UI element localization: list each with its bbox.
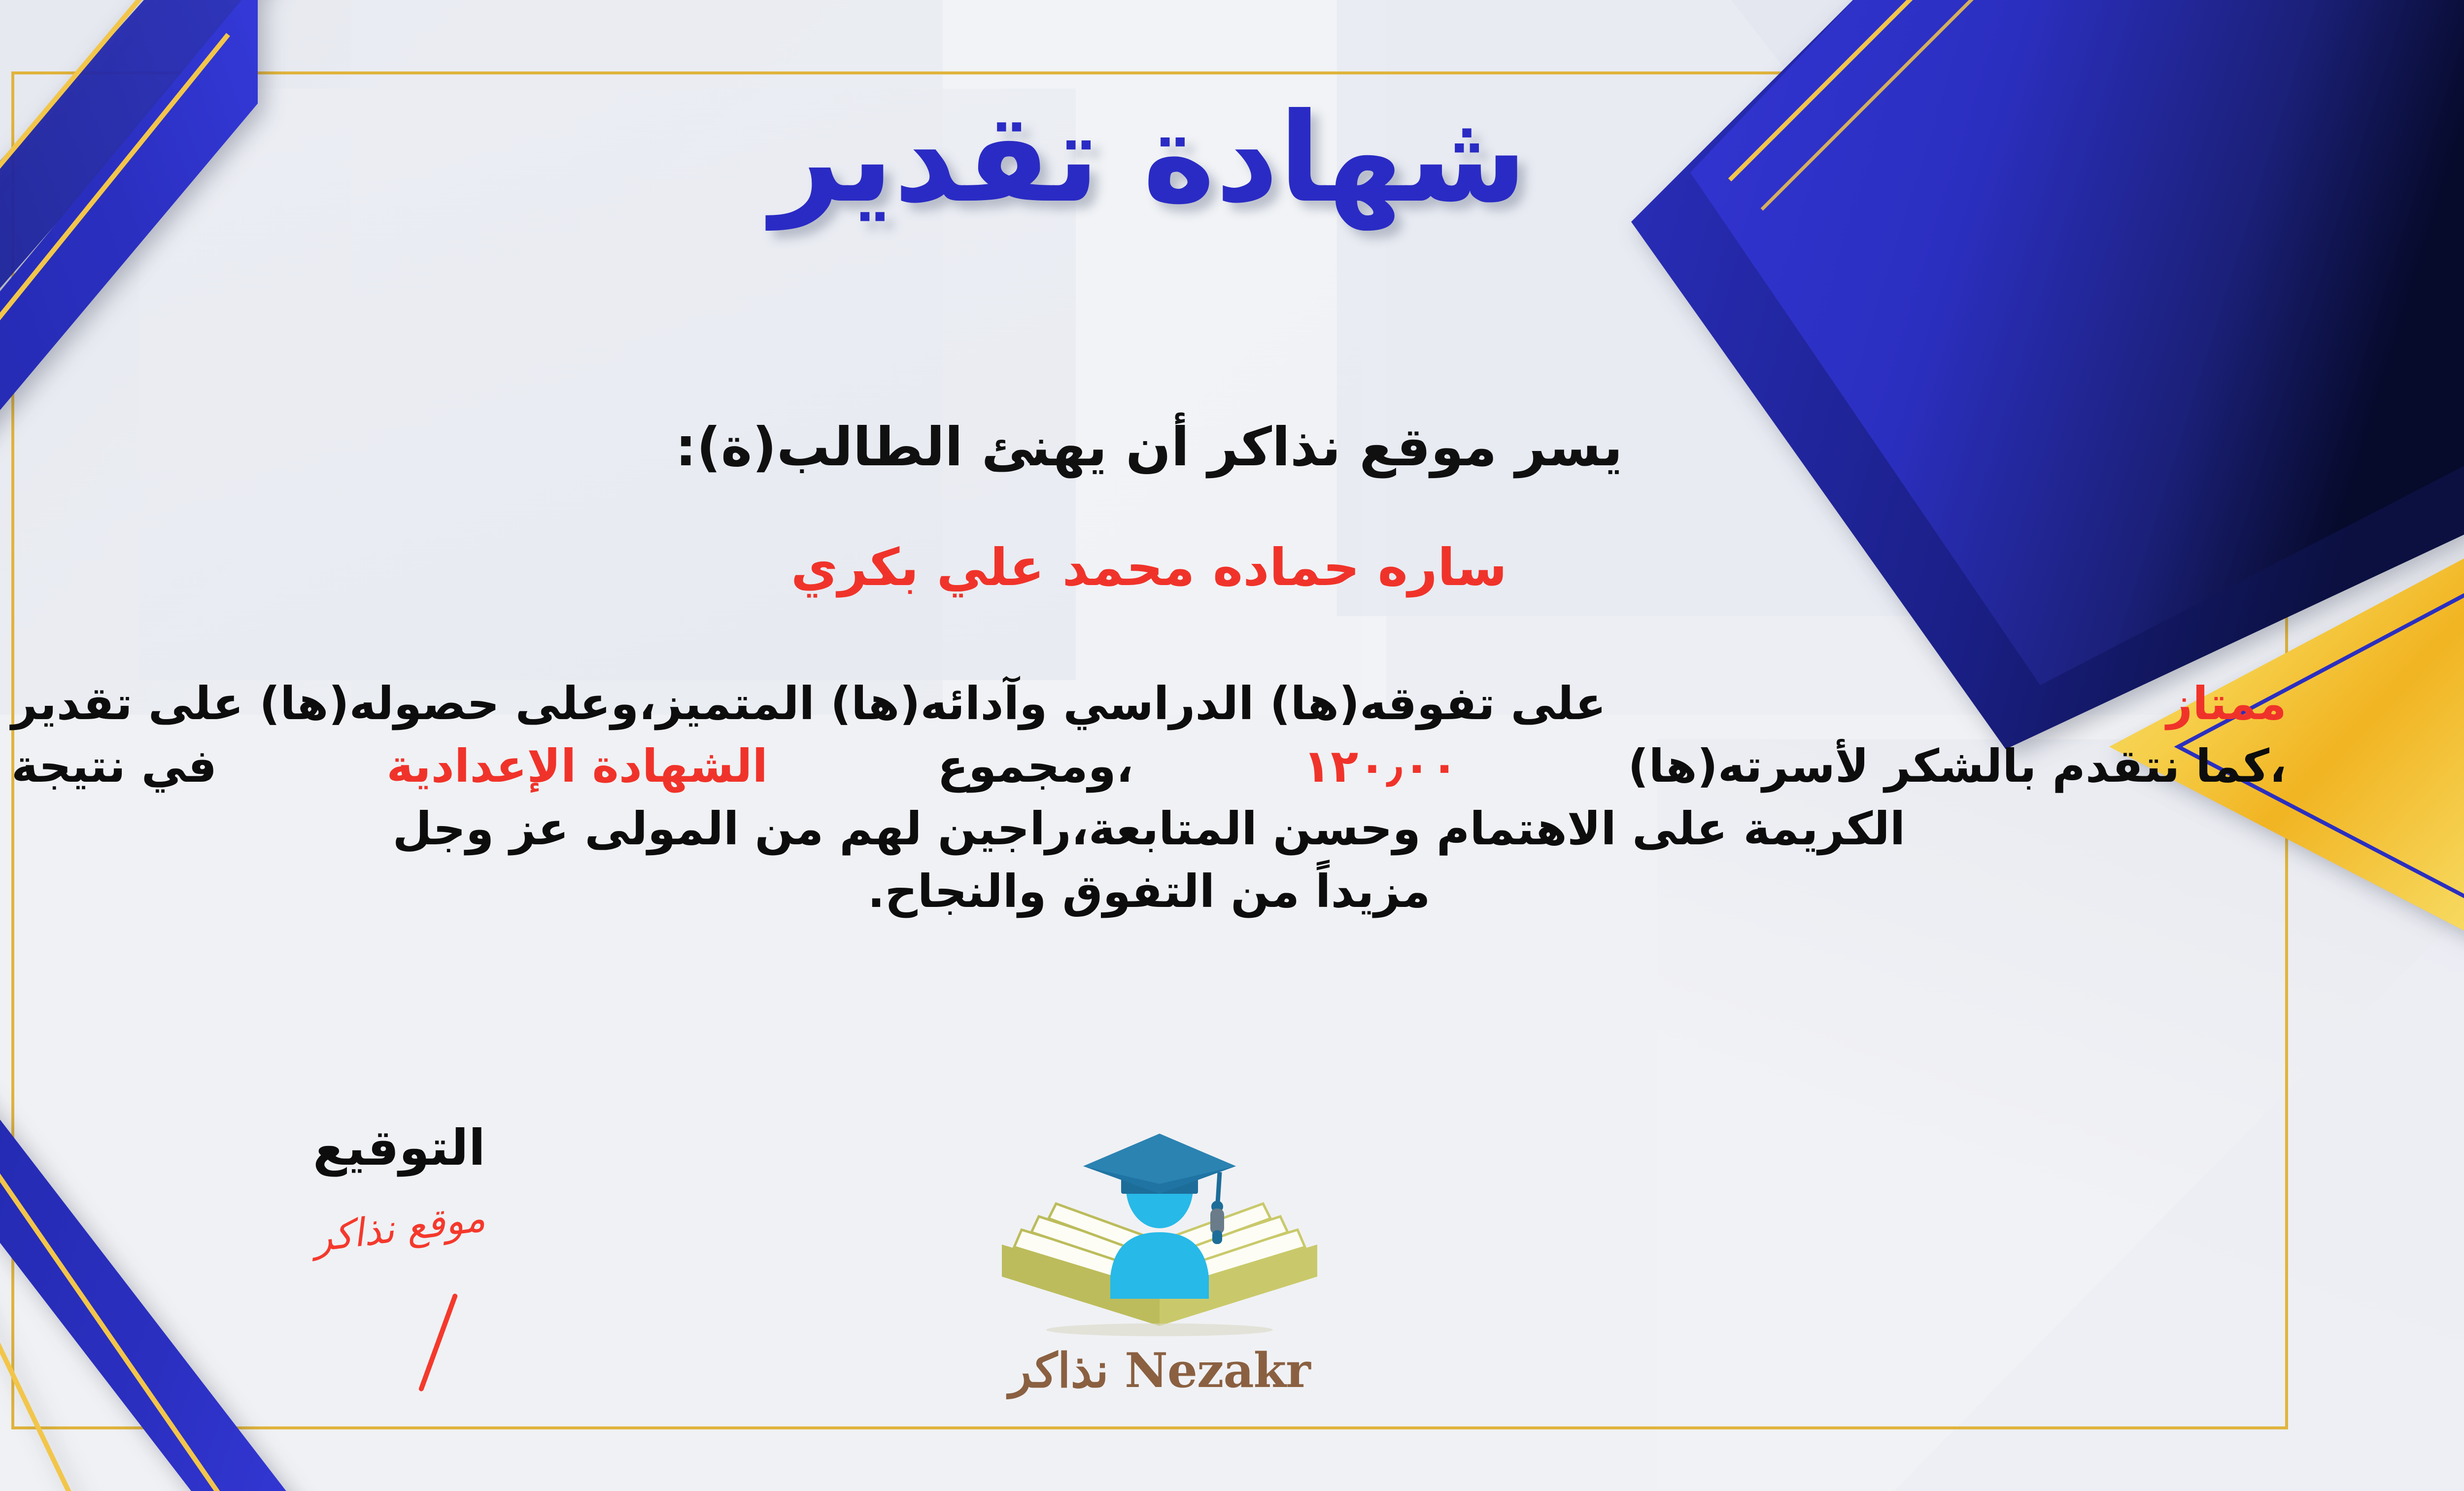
signature-block: التوقيع موقع نذاكر — [177, 1119, 621, 1250]
total-score-value: ١٢٠٫٠٠ — [1303, 735, 1458, 798]
brand-logo: Nezakr نذاكر — [967, 1129, 1352, 1434]
certificate-body: ممتاز على تفوقه(ها) الدراسي وآدائه(ها) ا… — [11, 673, 2287, 923]
greeting-line: يسر موقع نذاكر أن يهنئ الطالب(ة): — [0, 416, 2464, 478]
certificate-title: شهادة تقدير — [0, 86, 2464, 230]
certificate-canvas: شهادة تقدير يسر موقع نذاكر أن يهنئ الطال… — [0, 0, 2464, 1491]
body-line-1: ممتاز على تفوقه(ها) الدراسي وآدائه(ها) ا… — [11, 673, 2287, 735]
signature-label: التوقيع — [177, 1119, 621, 1177]
signature-stroke — [418, 1293, 458, 1392]
grade-value: ممتاز — [2166, 673, 2287, 735]
body-line-2-middle: ،ومجموع — [937, 735, 1133, 798]
logo-wordmark: Nezakr نذاكر — [967, 1343, 1352, 1398]
body-line-1-text: على تفوقه(ها) الدراسي وآدائه(ها) المتميز… — [11, 673, 1606, 735]
logo-graphic — [967, 1129, 1352, 1341]
body-line-2-prefix: في نتيجة — [11, 735, 217, 798]
body-line-2: ،كما نتقدم بالشكر لأسرته(ها) ١٢٠٫٠٠ ،ومج… — [11, 735, 2287, 798]
body-line-4: مزيداً من التفوق والنجاح. — [11, 861, 2287, 923]
signature-mark: موقع نذاكر — [311, 1196, 488, 1261]
student-name: ساره حماده محمد علي بكري — [0, 537, 2464, 597]
certificate-type-value: الشهادة الإعدادية — [386, 735, 768, 798]
certificate-content: شهادة تقدير يسر موقع نذاكر أن يهنئ الطال… — [0, 0, 2464, 1491]
body-line-2-suffix: ،كما نتقدم بالشكر لأسرته(ها) — [1628, 735, 2287, 798]
body-line-3: الكريمة على الاهتمام وحسن المتابعة،راجين… — [11, 798, 2287, 861]
